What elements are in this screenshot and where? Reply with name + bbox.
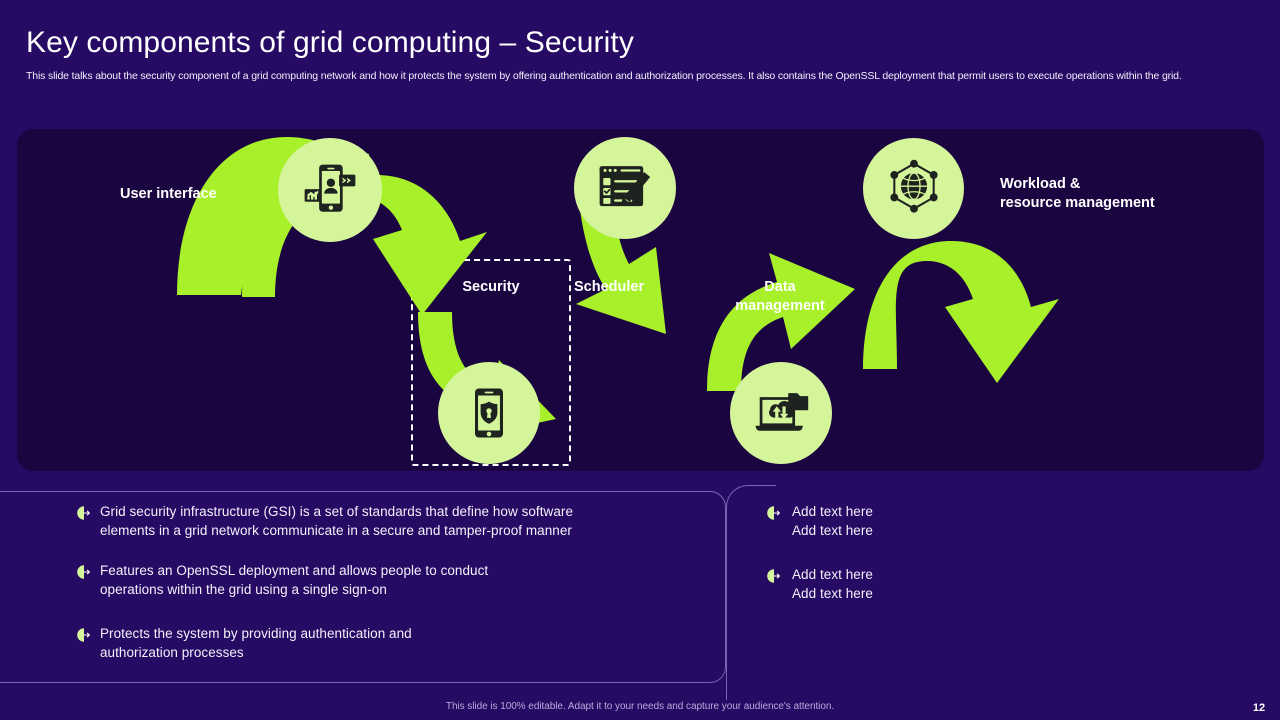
globe-network-icon [884, 159, 944, 219]
bullet-item: Protects the system by providing authent… [76, 625, 676, 662]
node-workload-resource-mgmt[interactable] [863, 138, 964, 239]
page-title: Key components of grid computing – Secur… [26, 26, 1126, 60]
smartphone-shield-icon [461, 385, 517, 441]
bullet-text: Add text here Add text here [792, 566, 873, 603]
node-label-security: Security [421, 278, 561, 297]
bullet-item: Features an OpenSSL deployment and allow… [76, 562, 676, 599]
bullet-text: Protects the system by providing authent… [100, 625, 412, 662]
bullet-text: Grid security infrastructure (GSI) is a … [100, 503, 573, 540]
bullet-item: Grid security infrastructure (GSI) is a … [76, 503, 676, 540]
node-data-management[interactable] [730, 362, 832, 464]
laptop-cloud-folder-icon [752, 384, 810, 442]
node-label-scheduler: Scheduler [574, 278, 704, 297]
bullet-text: Features an OpenSSL deployment and allow… [100, 562, 488, 599]
bullet-marker-icon [766, 505, 782, 521]
bullet-marker-icon [76, 627, 92, 643]
checklist-pencil-icon [596, 159, 654, 217]
node-security[interactable] [438, 362, 540, 464]
bullet-marker-icon [76, 505, 92, 521]
page-number: 12 [1244, 699, 1274, 717]
smartphone-user-icon [301, 161, 359, 219]
node-label-user-interface: User interface [120, 185, 290, 204]
page-subtitle: This slide talks about the security comp… [26, 69, 1258, 83]
bullet-marker-icon [76, 564, 92, 580]
bullet-text: Add text here Add text here [792, 503, 873, 540]
diagram-panel: User interface Security Scheduler Data m… [17, 129, 1264, 471]
slide-root: Key components of grid computing – Secur… [0, 0, 1280, 720]
bullet-item: Add text here Add text here [766, 566, 1066, 603]
bullet-marker-icon [766, 568, 782, 584]
node-user-interface[interactable] [278, 138, 382, 242]
bullet-item: Add text here Add text here [766, 503, 1066, 540]
node-label-data-management: Data management [697, 278, 863, 316]
footer-note: This slide is 100% editable. Adapt it to… [0, 701, 1280, 712]
node-label-workload-resource-mgmt: Workload & resource management [1000, 175, 1240, 213]
node-scheduler[interactable] [574, 137, 676, 239]
